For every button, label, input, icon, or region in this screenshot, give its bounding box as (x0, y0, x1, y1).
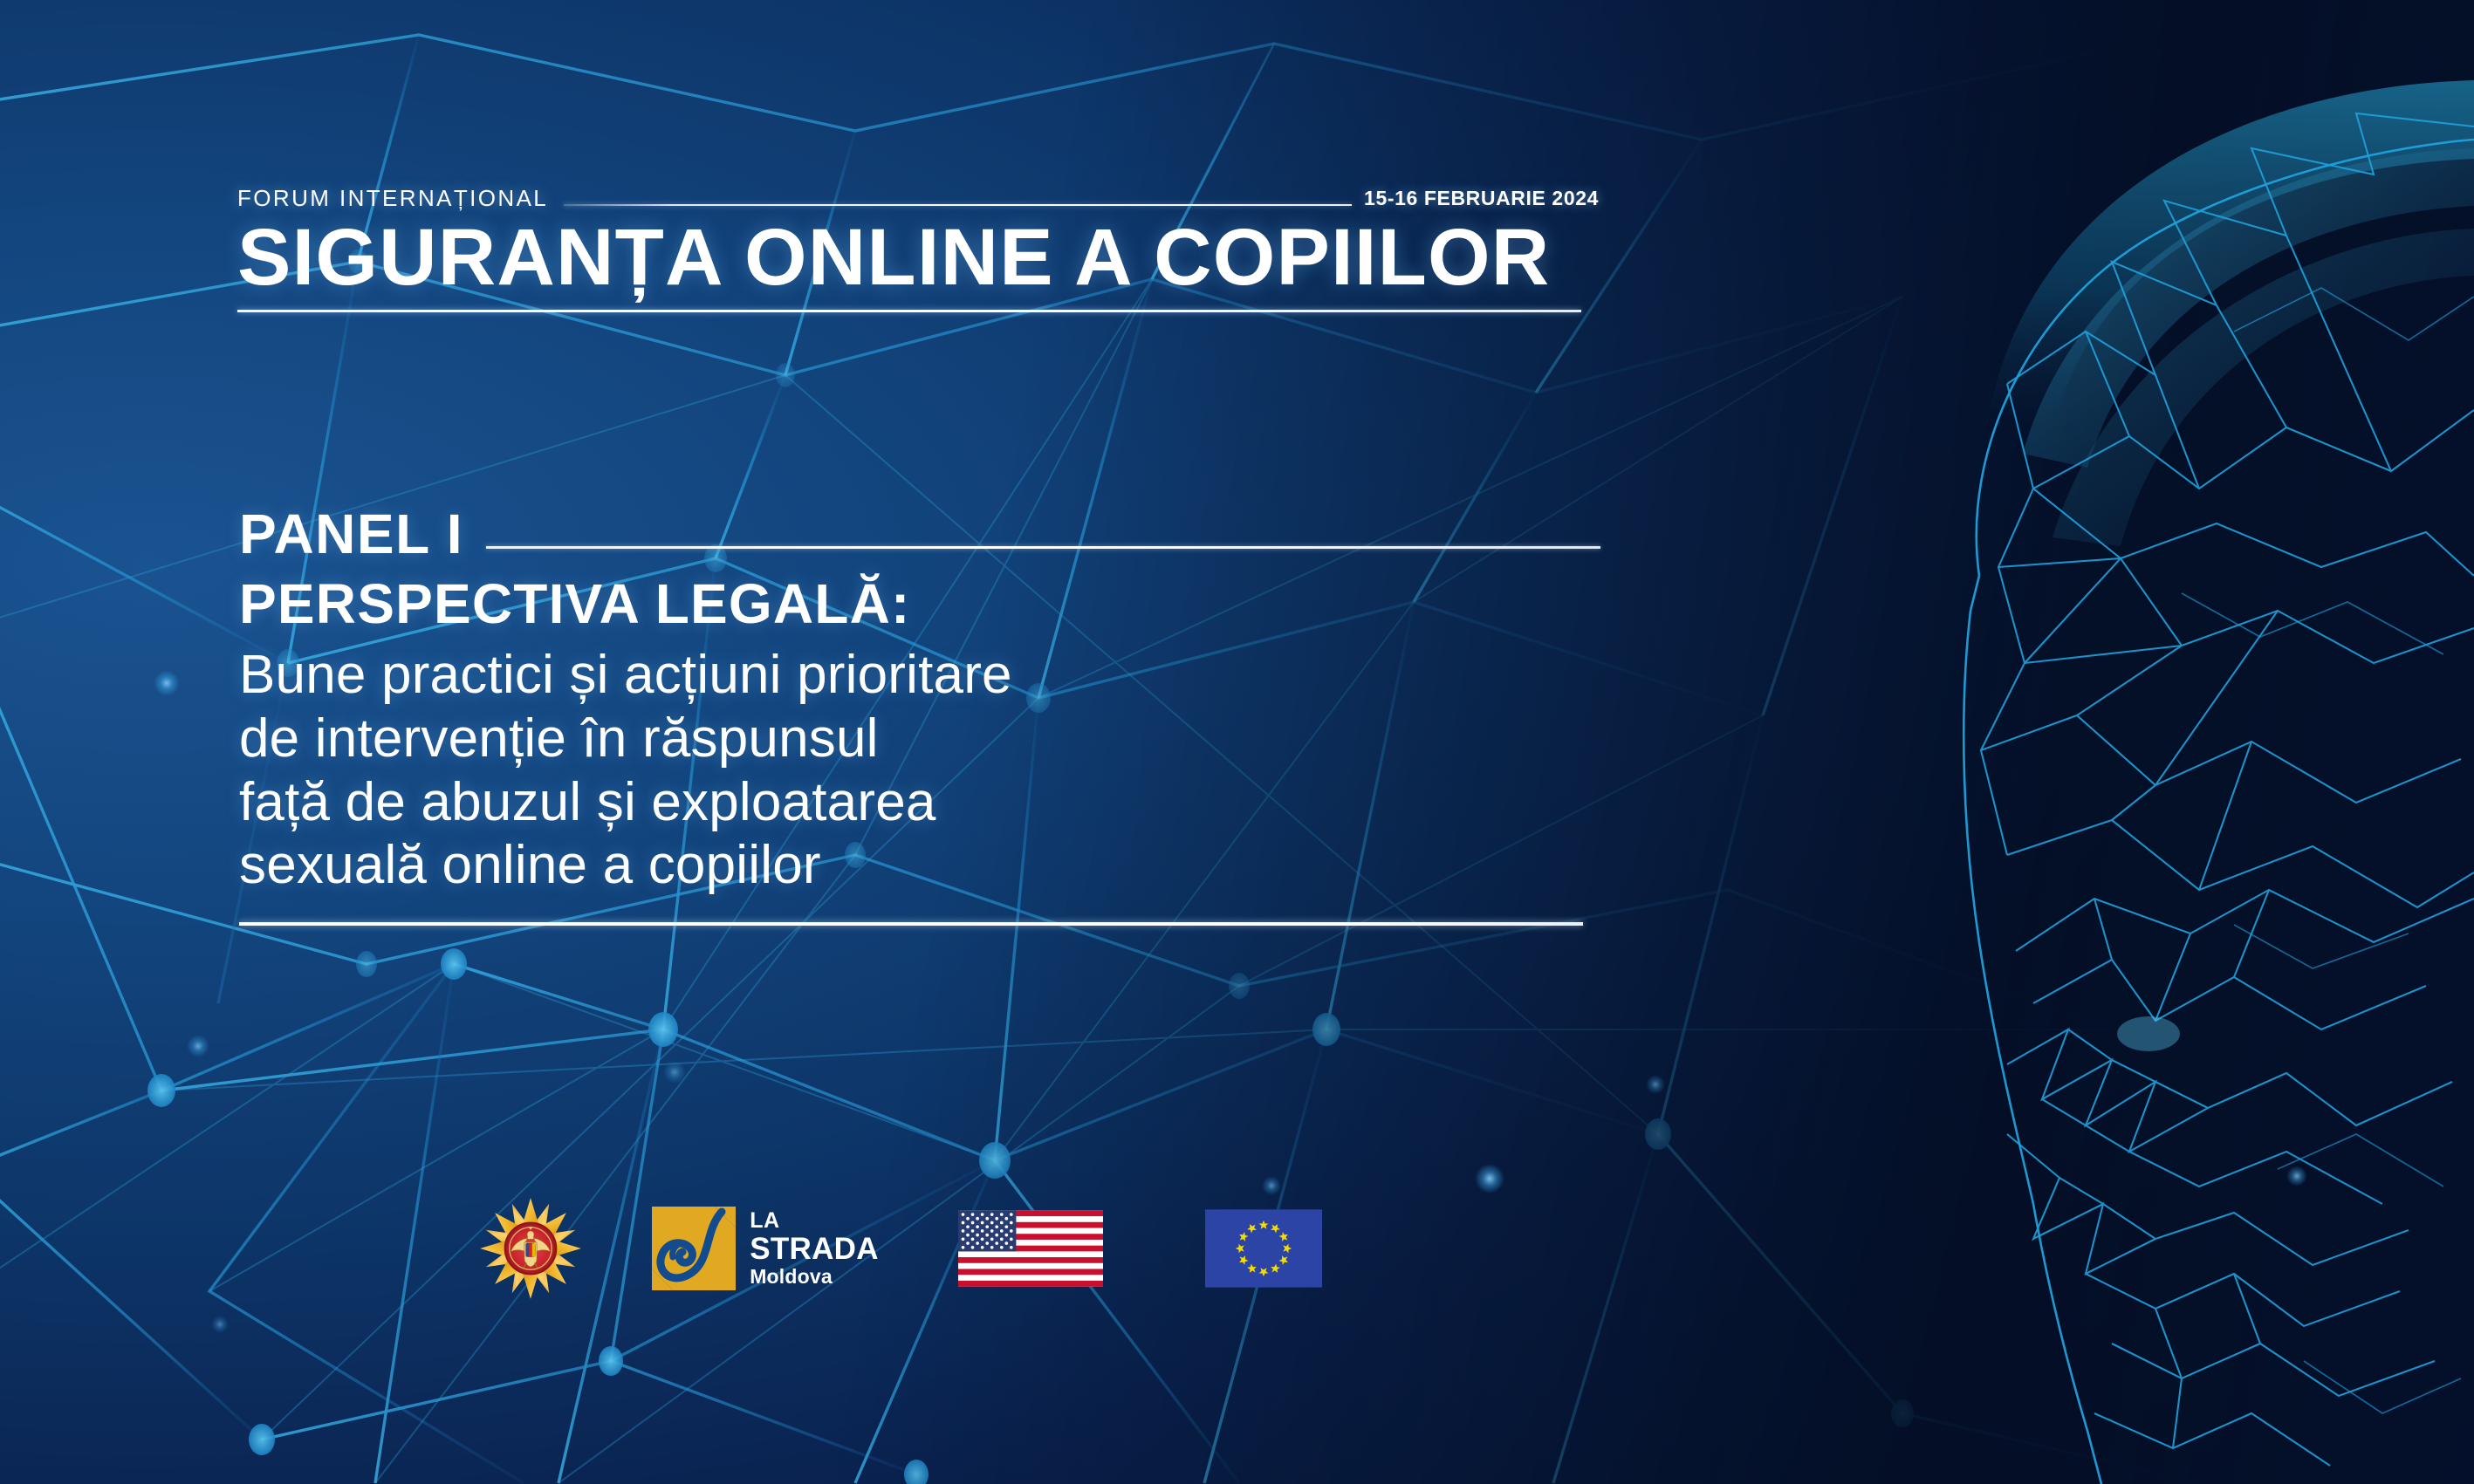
header-top-row: FORUM INTERNAȚIONAL 15-16 FEBRUARIE 2024 (237, 185, 1599, 212)
panel-description-line: de intervenție în răspunsul (239, 708, 1600, 771)
logo-la-strada-moldova: LA STRADA Moldova (660, 1205, 869, 1292)
panel-description-line: Bune practici și acțiuni prioritare (239, 644, 1600, 708)
logo-usa-flag (956, 1210, 1105, 1287)
title-divider (237, 310, 1581, 312)
la-strada-text: LA STRADA Moldova (750, 1210, 879, 1287)
usa-flag-icon (958, 1210, 1103, 1287)
panel-label: PANEL I (239, 506, 463, 563)
panel-description-line: față de abuzul și exploatarea (239, 771, 1600, 835)
panel-subtitle: PERSPECTIVA LEGALĂ: (239, 575, 1600, 633)
event-title: SIGURANȚA ONLINE A COPIILOR (237, 217, 1599, 297)
logo-row: LA STRADA Moldova (478, 1197, 1325, 1300)
panel-bottom-divider (239, 922, 1583, 926)
event-kicker: FORUM INTERNAȚIONAL (237, 185, 548, 212)
panel-description: Bune practici și acțiuni prioritare de i… (239, 644, 1600, 897)
logo-eu-flag (1203, 1209, 1325, 1288)
panel-description-line: sexuală online a copiilor (239, 834, 1600, 898)
la-strada-line-2: STRADA (750, 1234, 879, 1264)
la-strada-line-3: Moldova (750, 1267, 879, 1287)
kicker-divider (564, 204, 1352, 206)
logo-police-moldova (478, 1197, 583, 1300)
poster-canvas: FORUM INTERNAȚIONAL 15-16 FEBRUARIE 2024… (0, 0, 2474, 1484)
event-date: 15-16 FEBRUARIE 2024 (1364, 187, 1599, 210)
panel-divider (486, 546, 1600, 549)
la-strada-line-1: LA (750, 1210, 879, 1232)
eu-flag-icon (1205, 1209, 1322, 1288)
panel-block: PANEL I PERSPECTIVA LEGALĂ: Bune practic… (239, 506, 1600, 926)
spiral-mark-icon (650, 1205, 737, 1292)
header-block: FORUM INTERNAȚIONAL 15-16 FEBRUARIE 2024… (237, 185, 1599, 312)
la-strada-lockup: LA STRADA Moldova (650, 1205, 879, 1292)
star-emblem-icon (479, 1197, 582, 1300)
panel-label-row: PANEL I (239, 506, 1600, 563)
